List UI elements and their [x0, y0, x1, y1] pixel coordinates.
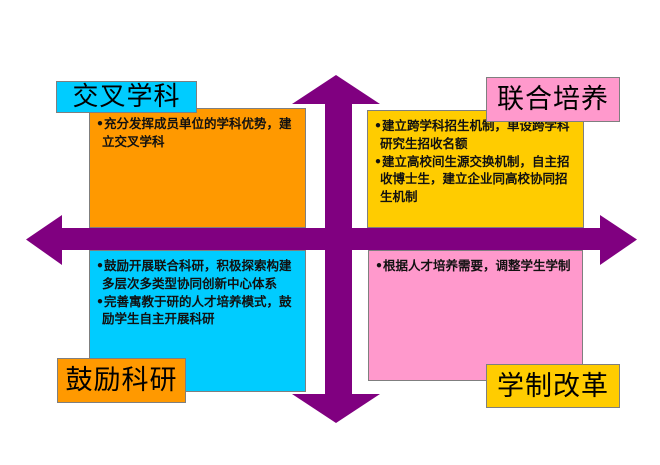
quadrant-box-top-left: 充分发挥成员单位的学科优势，建立交叉学科 — [89, 108, 306, 228]
slide-canvas: 充分发挥成员单位的学科优势，建立交叉学科 交叉学科 建立跨学科招生机制，单设跨学… — [0, 0, 660, 465]
bullet-list-top-left: 充分发挥成员单位的学科优势，建立交叉学科 — [96, 115, 300, 151]
bullet-item: 充分发挥成员单位的学科优势，建立交叉学科 — [96, 115, 300, 151]
quadrant-label-text: 交叉学科 — [72, 84, 180, 110]
quadrant-label-top-left: 交叉学科 — [56, 81, 197, 113]
quadrant-box-bottom-right: 根据人才培养需要，调整学生学制 — [368, 250, 583, 381]
quadrant-label-text: 学制改革 — [497, 373, 609, 400]
quadrant-label-bottom-right: 学制改革 — [486, 364, 620, 408]
bullet-item: 建立跨学科招生机制，单设跨学科研究生招收名额 — [374, 117, 578, 153]
quadrant-label-top-right: 联合培养 — [486, 77, 620, 122]
bullet-list-bottom-left: 鼓励开展联合科研，积极探索构建多层次多类型协同创新中心体系 完善寓教于研的人才培… — [96, 257, 300, 328]
bullet-item: 根据人才培养需要，调整学生学制 — [375, 257, 577, 275]
bullet-list-bottom-right: 根据人才培养需要，调整学生学制 — [375, 257, 577, 275]
bullet-list-top-right: 建立跨学科招生机制，单设跨学科研究生招收名额 建立高校间生源交换机制，自主招收博… — [374, 117, 578, 206]
quadrant-label-bottom-left: 鼓励科研 — [57, 358, 186, 403]
bullet-item: 完善寓教于研的人才培养模式，鼓励学生自主开展科研 — [96, 293, 300, 329]
bullet-item: 鼓励开展联合科研，积极探索构建多层次多类型协同创新中心体系 — [96, 257, 300, 293]
quadrant-label-text: 鼓励科研 — [66, 367, 178, 394]
quadrant-label-text: 联合培养 — [497, 86, 609, 113]
quadrant-box-top-right: 建立跨学科招生机制，单设跨学科研究生招收名额 建立高校间生源交换机制，自主招收博… — [367, 110, 584, 228]
bullet-item: 建立高校间生源交换机制，自主招收博士生，建立企业同高校协同招生机制 — [374, 153, 578, 206]
